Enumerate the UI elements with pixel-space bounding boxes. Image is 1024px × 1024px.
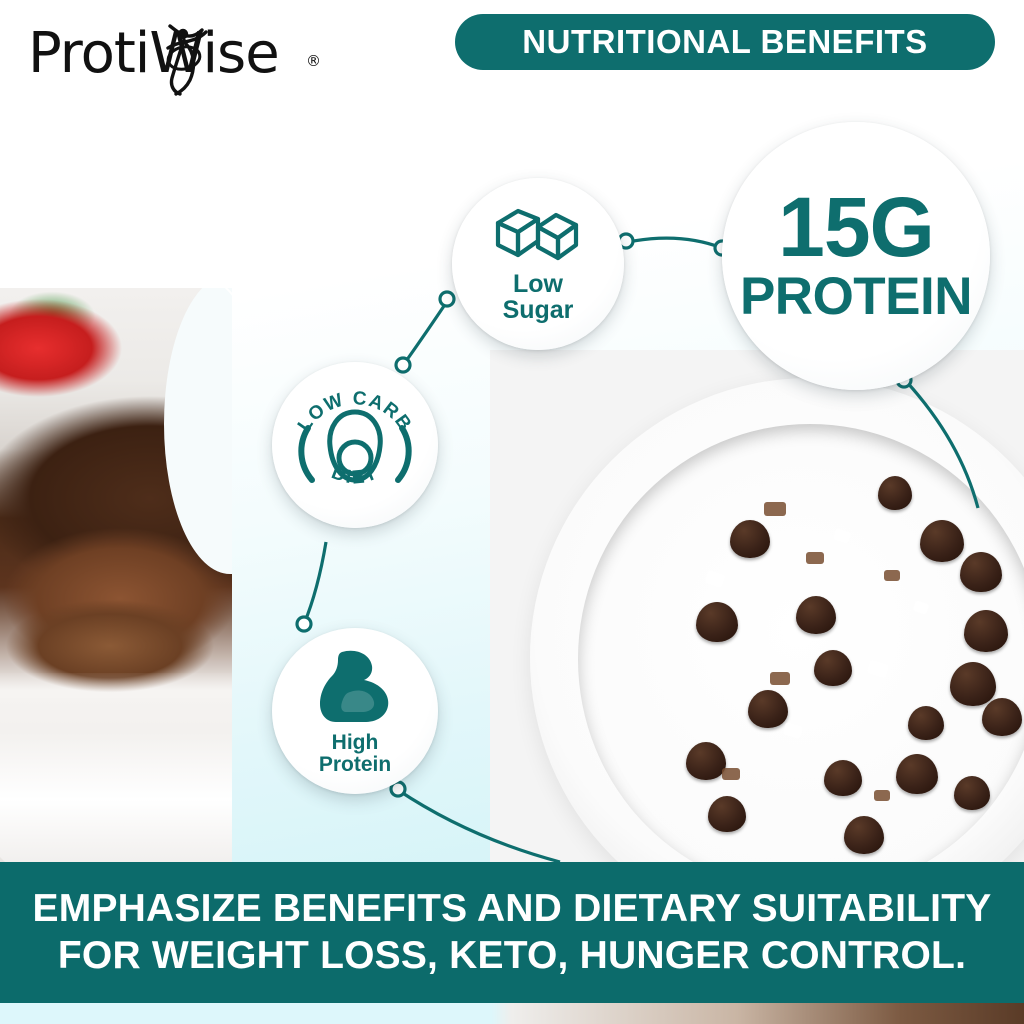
connector-carb-to-highprotein: [304, 542, 326, 624]
protein-amount: 15G: [778, 189, 934, 266]
connector-dot-highprotein-top: [297, 617, 311, 631]
low-sugar-label: LowSugar: [503, 271, 574, 323]
high-protein-label: HighProtein: [319, 732, 391, 776]
cup-rim-detail: [0, 673, 232, 863]
brand-logo[interactable]: ProtiWise ®: [28, 18, 328, 96]
bottom-banner: EMPHASIZE BENEFITS AND DIETARY SUITABILI…: [0, 862, 1024, 1003]
infographic-canvas: ProtiWise ® NUTRITIONAL BENEFITS 15G PRO…: [0, 0, 1024, 1024]
sugar-cubes-icon: [492, 205, 584, 265]
product-photo-right: [490, 350, 1024, 863]
badge-high-protein[interactable]: HighProtein: [272, 628, 438, 794]
flexed-bicep-icon: [312, 646, 398, 728]
registered-mark: ®: [306, 52, 321, 70]
protein-label: PROTEIN: [740, 270, 972, 323]
connector-sugar-to-protein: [628, 238, 722, 248]
banner-line-1: EMPHASIZE BENEFITS AND DIETARY SUITABILI…: [33, 886, 992, 932]
connector-dot-sugar-left: [440, 292, 454, 306]
badge-protein[interactable]: 15G PROTEIN: [722, 122, 990, 390]
header-title-pill: NUTRITIONAL BENEFITS: [455, 14, 995, 70]
badge-low-carb-diet[interactable]: LOW CARB DIET: [272, 362, 438, 528]
page-title: NUTRITIONAL BENEFITS: [522, 23, 927, 61]
product-photo-left: [0, 288, 232, 863]
low-carb-diet-icon: LOW CARB DIET: [280, 370, 430, 520]
badge-low-sugar[interactable]: LowSugar: [452, 178, 624, 350]
dancing-figure-icon: [150, 18, 224, 96]
banner-line-2: FOR WEIGHT LOSS, KETO, HUNGER CONTROL.: [58, 933, 966, 979]
connector-carb-to-sugar: [404, 300, 448, 364]
bottom-strip: [0, 1003, 1024, 1024]
